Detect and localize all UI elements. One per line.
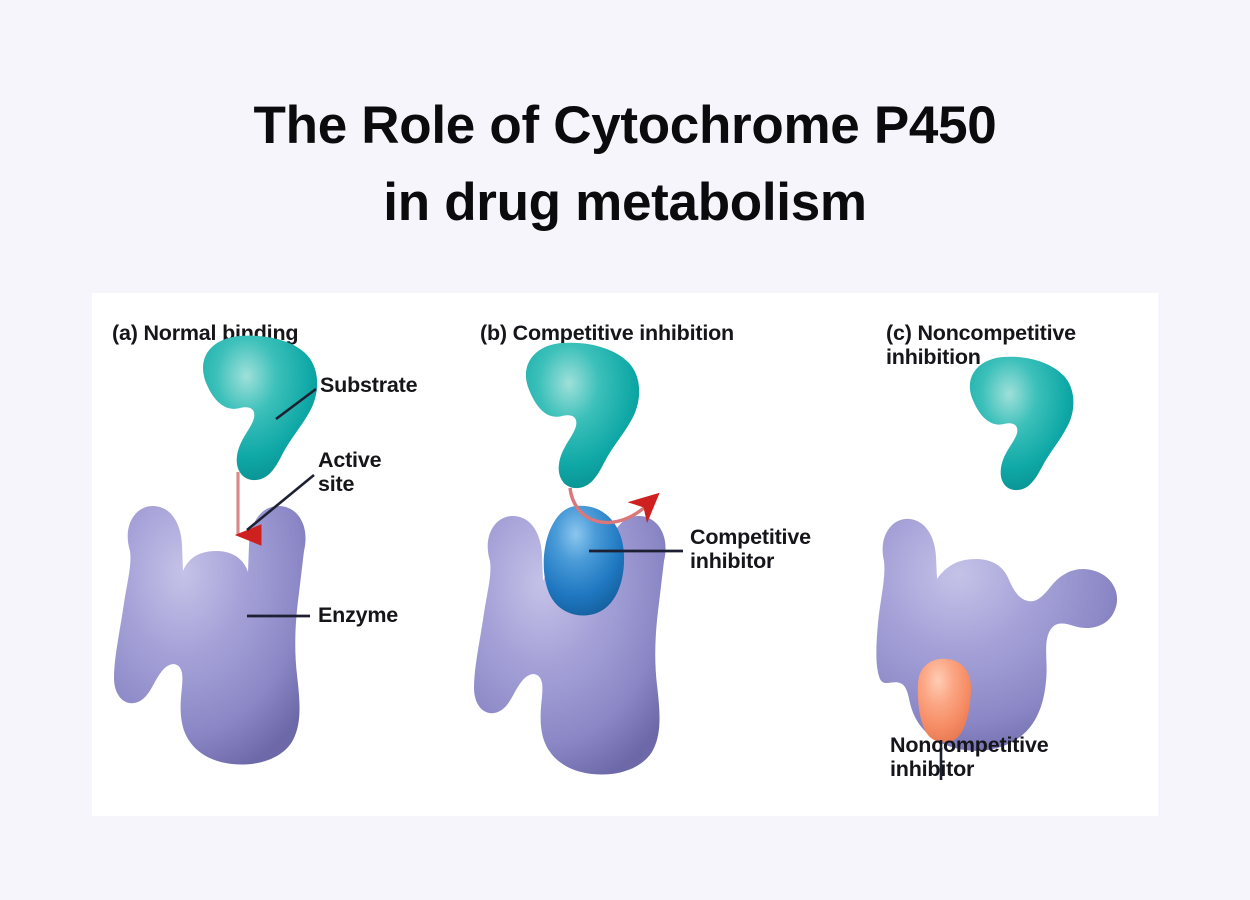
label-substrate: Substrate <box>320 373 417 397</box>
enzyme-deformed-shape <box>876 519 1117 751</box>
page-root: The Role of Cytochrome P450 in drug meta… <box>0 0 1250 900</box>
panel-normal-binding: (a) Normal binding <box>92 293 472 816</box>
page-title-line-2: in drug metabolism <box>0 165 1250 242</box>
label-noncompetitive-inhibitor: Noncompetitive inhibitor <box>890 733 1048 781</box>
panel-noncompetitive-inhibition: (c) Noncompetitive inhibition <box>862 293 1158 816</box>
label-competitive-inhibitor: Competitive inhibitor <box>690 525 811 573</box>
substrate-shape-b <box>526 343 639 488</box>
label-active-site: Active site <box>318 448 381 496</box>
page-title: The Role of Cytochrome P450 in drug meta… <box>0 88 1250 242</box>
panel-competitive-inhibition: (b) Competitive inhibition <box>462 293 862 816</box>
page-title-line-1: The Role of Cytochrome P450 <box>0 88 1250 165</box>
figure-card: (a) Normal binding <box>92 293 1158 816</box>
substrate-shape-a <box>203 336 317 480</box>
substrate-shape-c <box>970 357 1074 490</box>
panel-a-artwork <box>92 293 472 816</box>
label-enzyme: Enzyme <box>318 603 398 627</box>
enzyme-shape-a <box>114 506 306 765</box>
